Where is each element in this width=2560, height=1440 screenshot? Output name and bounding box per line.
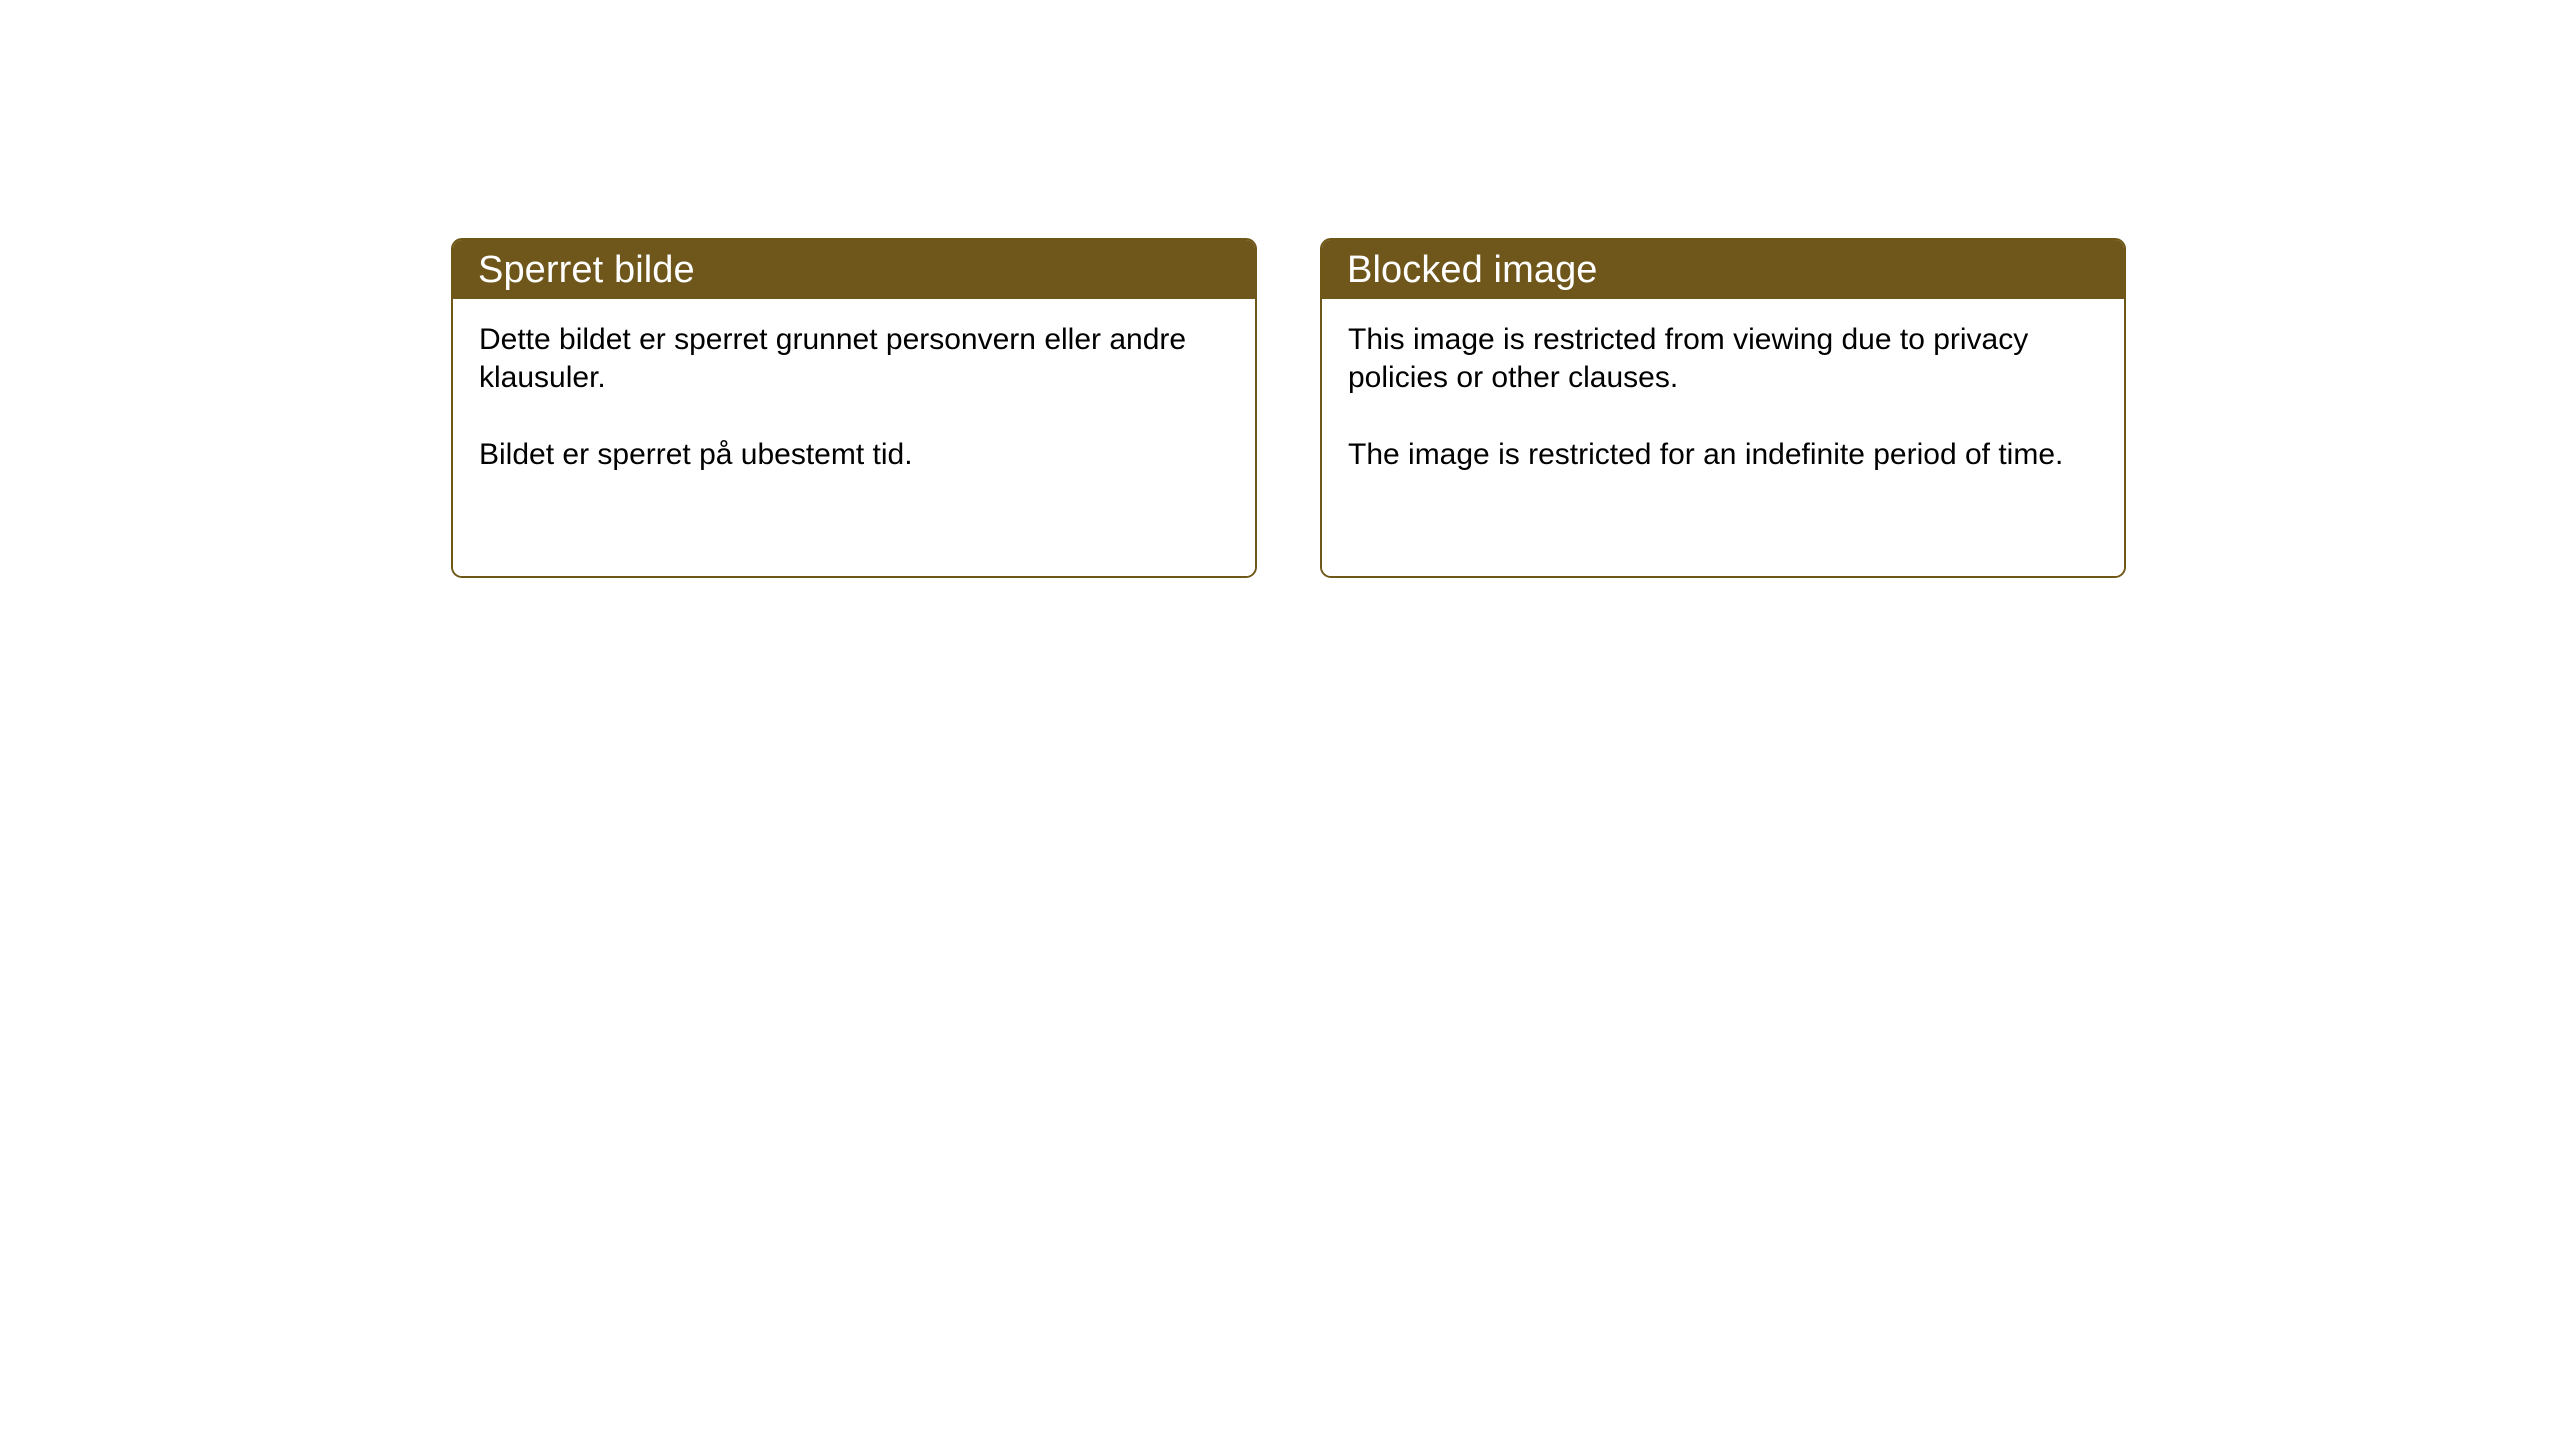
- blocked-image-card-english: Blocked image This image is restricted f…: [1320, 238, 2126, 578]
- card-paragraph-secondary-norwegian: Bildet er sperret på ubestemt tid.: [479, 436, 1229, 474]
- card-header-english: Blocked image: [1322, 240, 2124, 299]
- card-paragraph-primary-norwegian: Dette bildet er sperret grunnet personve…: [479, 321, 1229, 398]
- card-header-norwegian: Sperret bilde: [453, 240, 1255, 299]
- card-body-norwegian: Dette bildet er sperret grunnet personve…: [453, 299, 1255, 576]
- card-paragraph-primary-english: This image is restricted from viewing du…: [1348, 321, 2098, 398]
- card-body-english: This image is restricted from viewing du…: [1322, 299, 2124, 576]
- card-title-english: Blocked image: [1347, 251, 1598, 289]
- page-root: Sperret bilde Dette bildet er sperret gr…: [0, 0, 2560, 1440]
- blocked-image-card-group: Sperret bilde Dette bildet er sperret gr…: [451, 238, 2126, 578]
- blocked-image-card-norwegian: Sperret bilde Dette bildet er sperret gr…: [451, 238, 1257, 578]
- card-title-norwegian: Sperret bilde: [478, 251, 695, 289]
- card-paragraph-secondary-english: The image is restricted for an indefinit…: [1348, 436, 2098, 474]
